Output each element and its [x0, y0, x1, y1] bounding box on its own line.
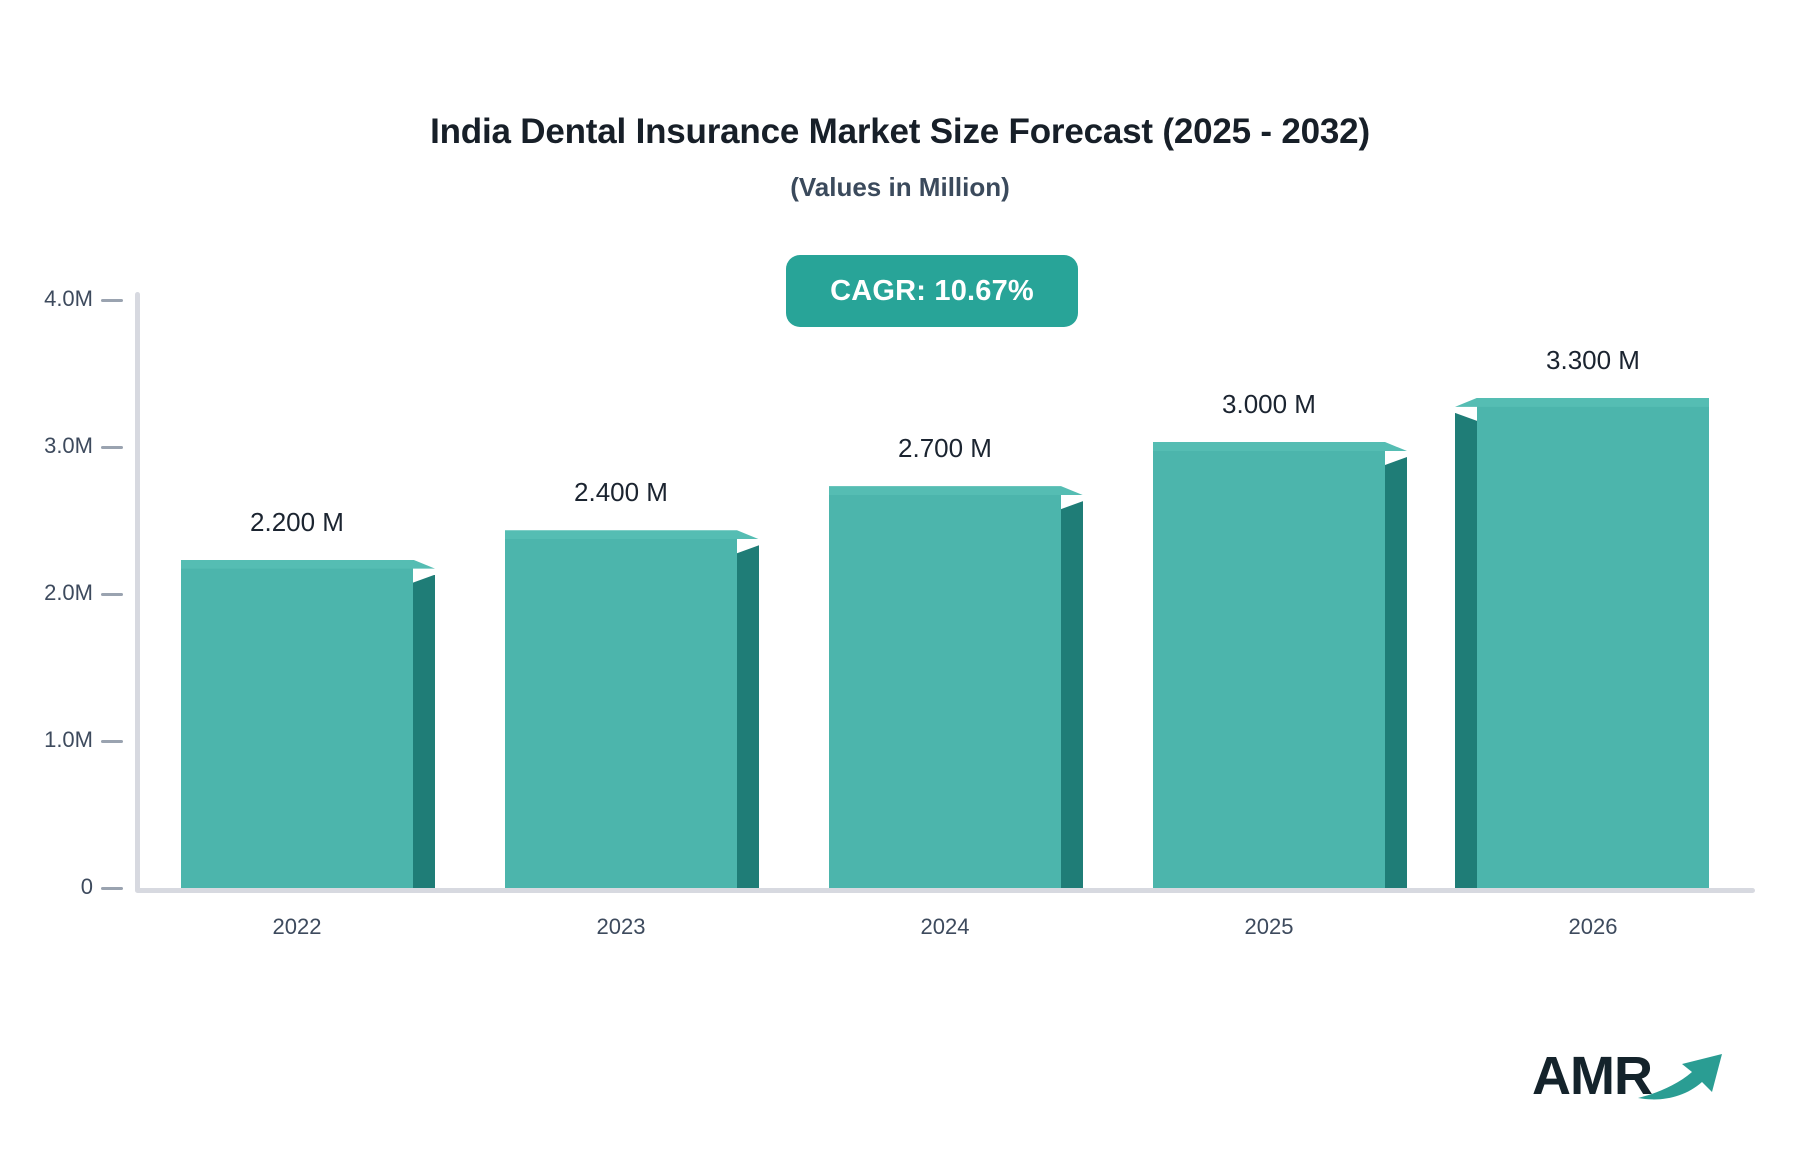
- bar-top-face: [1153, 442, 1407, 451]
- bar-2024[interactable]: [829, 491, 1061, 888]
- bar-front-face: [181, 565, 413, 888]
- y-tick-label: 0: [81, 874, 93, 900]
- logo-text: AMR: [1532, 1049, 1652, 1103]
- bar-2022[interactable]: [181, 565, 413, 888]
- bar-value-label: 2.200 M: [127, 507, 467, 538]
- plot-area: 01.0M2.0M3.0M4.0M 2.200 M2.400 M2.700 M3…: [135, 292, 1755, 892]
- bar-side-face: [1061, 501, 1083, 888]
- growth-arrow-icon: [1636, 1048, 1728, 1109]
- amr-logo: AMR: [1532, 1040, 1732, 1112]
- page-subtitle: (Values in Million): [0, 172, 1800, 203]
- bar-2023[interactable]: [505, 535, 737, 888]
- y-tick-label: 4.0M: [44, 286, 93, 312]
- y-tick-mark: [101, 299, 123, 302]
- y-tick-mark: [101, 446, 123, 449]
- bar-top-face: [181, 560, 435, 569]
- x-tick-label: 2022: [127, 914, 467, 940]
- x-tick-label: 2025: [1099, 914, 1439, 940]
- bar-2025[interactable]: [1153, 447, 1385, 888]
- y-tick-label: 3.0M: [44, 433, 93, 459]
- y-tick-label: 1.0M: [44, 727, 93, 753]
- bar-value-label: 2.700 M: [775, 433, 1115, 464]
- page-title: India Dental Insurance Market Size Forec…: [0, 112, 1800, 152]
- bar-side-face: [737, 545, 759, 888]
- bar-top-face: [829, 486, 1083, 495]
- bar-front-face: [829, 491, 1061, 888]
- x-tick-label: 2024: [775, 914, 1115, 940]
- bar-value-label: 2.400 M: [451, 477, 791, 508]
- y-tick-mark: [101, 887, 123, 890]
- bar-front-face: [1477, 403, 1709, 888]
- y-tick-mark: [101, 740, 123, 743]
- bar-top-face: [1455, 398, 1709, 407]
- bar-2026[interactable]: [1477, 403, 1709, 888]
- bar-side-face: [1385, 457, 1407, 888]
- bar-front-face: [1153, 447, 1385, 888]
- y-tick-mark: [101, 593, 123, 596]
- bar-value-label: 3.300 M: [1423, 345, 1763, 376]
- bar-value-label: 3.000 M: [1099, 389, 1439, 420]
- bar-side-face: [1455, 413, 1477, 888]
- chart-page: India Dental Insurance Market Size Forec…: [0, 0, 1800, 1156]
- y-axis-line: [135, 292, 140, 892]
- y-tick-label: 2.0M: [44, 580, 93, 606]
- x-tick-label: 2023: [451, 914, 791, 940]
- bar-side-face: [413, 575, 435, 888]
- x-axis-line: [135, 888, 1755, 893]
- bar-front-face: [505, 535, 737, 888]
- bar-top-face: [505, 530, 759, 539]
- x-tick-label: 2026: [1423, 914, 1763, 940]
